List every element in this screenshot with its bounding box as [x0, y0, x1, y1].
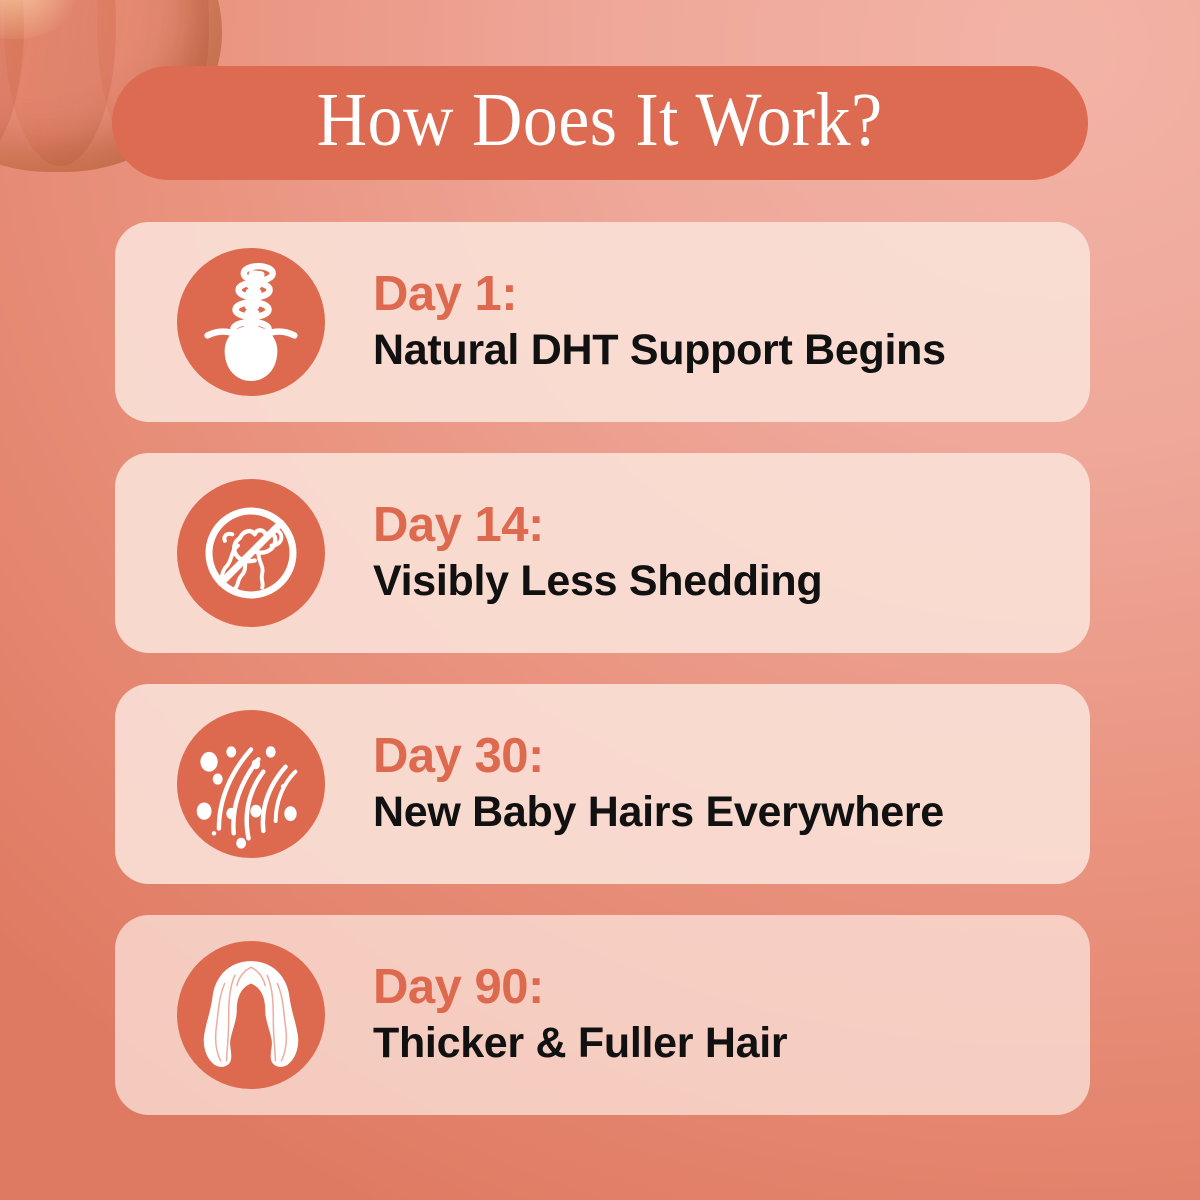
step-card-day-1: Day 1: Natural DHT Support Begins	[115, 222, 1090, 422]
step-description: New Baby Hairs Everywhere	[373, 788, 944, 837]
how-it-works-poster: How Does It Work?	[0, 0, 1200, 1200]
hair-follicle-icon	[177, 248, 325, 396]
step-day-label: Day 1:	[373, 268, 946, 322]
step-description: Natural DHT Support Begins	[373, 326, 946, 375]
step-card-day-30: Day 30: New Baby Hairs Everywhere	[115, 684, 1090, 884]
no-hair-shedding-icon	[177, 479, 325, 627]
pumpkin-highlight	[0, 0, 90, 39]
header-banner: How Does It Work?	[112, 66, 1088, 180]
pumpkin-rib	[4, 0, 116, 166]
step-day-label: Day 30:	[373, 730, 944, 784]
steps-list: Day 1: Natural DHT Support Begins	[115, 222, 1090, 1146]
step-description: Visibly Less Shedding	[373, 557, 822, 606]
new-baby-hairs-icon	[177, 710, 325, 858]
step-description: Thicker & Fuller Hair	[373, 1019, 787, 1068]
pumpkin-rib	[0, 0, 24, 166]
pumpkin-stem	[0, 0, 1, 20]
step-card-text: Day 14: Visibly Less Shedding	[373, 499, 822, 606]
step-card-day-14: Day 14: Visibly Less Shedding	[115, 453, 1090, 653]
step-card-day-90: Day 90: Thicker & Fuller Hair	[115, 915, 1090, 1115]
step-card-text: Day 30: New Baby Hairs Everywhere	[373, 730, 944, 837]
pumpkin-stem	[1128, 1154, 1200, 1200]
step-card-text: Day 90: Thicker & Fuller Hair	[373, 961, 787, 1068]
step-day-label: Day 90:	[373, 961, 787, 1015]
step-day-label: Day 14:	[373, 499, 822, 553]
pumpkin-rib	[1131, 997, 1200, 1200]
page-title: How Does It Work?	[317, 82, 883, 164]
step-card-text: Day 1: Natural DHT Support Begins	[373, 268, 946, 375]
long-wavy-hair-icon	[177, 941, 325, 1089]
